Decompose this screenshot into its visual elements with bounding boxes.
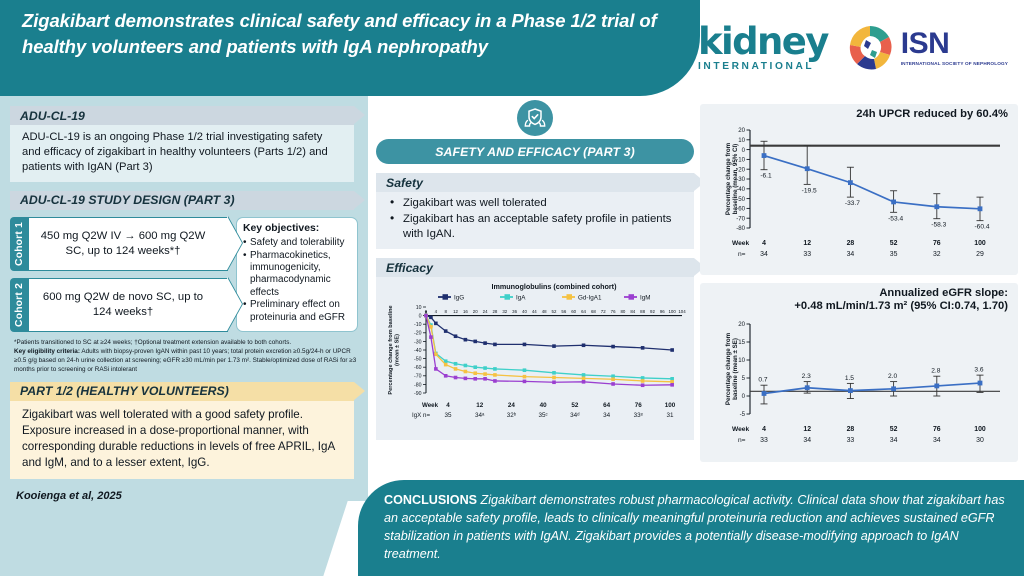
upcr-chart-container: 24h UPCR reduced by 60.4% 20100-10-20-30…: [700, 104, 1018, 275]
citation: Kooienga et al, 2025: [16, 490, 122, 502]
conclusions-panel: CONCLUSIONS Zigakibart demonstrates robu…: [358, 480, 1024, 576]
conclusions-text: Zigakibart demonstrates robust pharmacol…: [384, 493, 1005, 561]
svg-text:33: 33: [760, 437, 768, 444]
list-item: Preliminary effect on proteinuria and eG…: [243, 299, 353, 323]
svg-text:15: 15: [738, 339, 745, 346]
left-column: ADU-CL-19 ADU-CL-19 is an ongoing Phase …: [0, 96, 368, 576]
svg-text:72: 72: [601, 309, 606, 314]
svg-text:IgM: IgM: [640, 295, 651, 302]
isn-logo-text: ISN INTERNATIONAL SOCIETY OF NEPHROLOGY: [901, 29, 1008, 67]
svg-text:52: 52: [890, 240, 898, 247]
svg-text:20: 20: [738, 127, 745, 134]
shield-hands-icon: [517, 100, 553, 136]
egfr-title-line-1: Annualized eGFR slope:: [704, 287, 1008, 301]
svg-text:n=: n=: [738, 437, 746, 444]
svg-text:31: 31: [666, 412, 674, 419]
cohort-1-label: Cohort 1: [14, 222, 25, 266]
svg-text:Percentage change from baselin: Percentage change from baseline(mean ± S…: [388, 306, 400, 395]
eligibility-label: Key eligibility criteria:: [14, 348, 80, 355]
study-footnotes: *Patients transitioned to SC at ≥24 week…: [0, 332, 368, 374]
svg-text:88: 88: [640, 309, 645, 314]
svg-text:33: 33: [803, 251, 811, 258]
svg-text:Percentage change frombaseline: Percentage change frombaseline (mean, 95…: [725, 142, 739, 215]
svg-text:33: 33: [847, 437, 855, 444]
svg-text:10: 10: [738, 137, 745, 144]
svg-text:12: 12: [803, 240, 811, 247]
egfr-chart-container: Annualized eGFR slope: +0.48 mL/min/1.73…: [700, 283, 1018, 462]
banner-safety-label: Safety: [386, 176, 423, 190]
egfr-chart: 20151050-5Percentage change frombaseline…: [704, 314, 1010, 454]
egfr-chart-title: Annualized eGFR slope: +0.48 mL/min/1.73…: [704, 287, 1012, 314]
svg-text:12: 12: [803, 426, 811, 433]
key-objectives-title: Key objectives:: [243, 223, 353, 236]
safety-efficacy-pill-label: SAFETY AND EFFICACY (PART 3): [435, 145, 635, 159]
banner-part-1-2-label: PART 1/2 (HEALTHY VOLUNTEERS): [20, 384, 229, 398]
svg-text:2.3: 2.3: [802, 373, 811, 380]
isn-logo-subtitle: INTERNATIONAL SOCIETY OF NEPHROLOGY: [901, 61, 1008, 67]
svg-text:4: 4: [762, 426, 766, 433]
svg-text:30: 30: [976, 437, 984, 444]
banner-safety: Safety: [376, 173, 694, 192]
svg-text:-70: -70: [414, 374, 422, 380]
svg-text:10: 10: [738, 357, 745, 364]
svg-text:34: 34: [803, 437, 811, 444]
key-objectives-box: Key objectives: Safety and tolerability …: [236, 217, 358, 332]
svg-text:2.0: 2.0: [888, 373, 897, 380]
svg-text:Week: Week: [732, 426, 749, 433]
svg-text:24: 24: [508, 402, 516, 409]
egfr-title-line-2: +0.48 mL/min/1.73 m² (95% CI:0.74, 1.70): [704, 300, 1008, 314]
svg-text:Week: Week: [732, 240, 749, 247]
svg-text:-90: -90: [414, 391, 422, 397]
svg-text:34: 34: [890, 437, 898, 444]
isn-globe-icon: [844, 22, 896, 74]
logo-group: kidney INTERNATIONAL ISN INTER: [690, 0, 1024, 96]
svg-text:34ᵈ: 34ᵈ: [570, 412, 580, 419]
svg-text:4: 4: [762, 240, 766, 247]
svg-text:28: 28: [847, 240, 855, 247]
safety-bullet-list: Zigakibart was well tolerated Zigakibart…: [386, 196, 686, 241]
svg-text:32: 32: [502, 309, 507, 314]
footnote-symbols: *Patients transitioned to SC at ≥24 week…: [14, 339, 291, 346]
banner-study-design: ADU-CL-19 STUDY DESIGN (PART 3): [10, 191, 354, 210]
svg-text:96: 96: [660, 309, 665, 314]
svg-text:2.8: 2.8: [931, 368, 940, 375]
conclusions-label: CONCLUSIONS: [384, 493, 477, 507]
banner-part-1-2: PART 1/2 (HEALTHY VOLUNTEERS): [10, 382, 354, 401]
svg-text:36: 36: [512, 309, 517, 314]
svg-text:-80: -80: [414, 383, 422, 389]
svg-text:48: 48: [542, 309, 547, 314]
key-objectives-list: Safety and tolerability Pharmacokinetics…: [243, 237, 353, 323]
svg-text:100: 100: [974, 240, 986, 247]
cohort-1-tab: Cohort 1: [10, 217, 29, 271]
svg-text:52: 52: [890, 426, 898, 433]
svg-text:104: 104: [678, 309, 686, 314]
svg-text:20: 20: [473, 309, 478, 314]
svg-text:IgX n=: IgX n=: [412, 412, 430, 419]
svg-text:-10: -10: [414, 323, 422, 329]
svg-text:-50: -50: [414, 357, 422, 363]
svg-text:0: 0: [419, 314, 422, 320]
svg-text:100: 100: [974, 426, 986, 433]
svg-text:68: 68: [591, 309, 596, 314]
svg-text:8: 8: [444, 309, 447, 314]
kidney-logo-word: kidney: [698, 24, 828, 59]
svg-text:52: 52: [552, 309, 557, 314]
study-design-body: Cohort 1 450 mg Q2W IV → 600 mg Q2W SC, …: [0, 210, 368, 332]
svg-text:-33.7: -33.7: [845, 200, 860, 207]
svg-text:24: 24: [483, 309, 488, 314]
svg-text:0.7: 0.7: [758, 377, 767, 384]
isn-logo-word: ISN: [901, 29, 1008, 59]
kidney-international-logo: kidney INTERNATIONAL: [698, 24, 828, 72]
list-item: Safety and tolerability: [243, 237, 353, 249]
svg-text:34: 34: [760, 251, 768, 258]
svg-text:60: 60: [571, 309, 576, 314]
svg-text:35: 35: [444, 412, 452, 419]
svg-text:Week: Week: [422, 402, 439, 409]
middle-column: SAFETY AND EFFICACY (PART 3) Safety Ziga…: [376, 100, 694, 440]
svg-text:80: 80: [620, 309, 625, 314]
svg-text:-58.3: -58.3: [931, 221, 946, 228]
cohort-list: Cohort 1 450 mg Q2W IV → 600 mg Q2W SC, …: [10, 217, 228, 332]
svg-text:64: 64: [603, 402, 611, 409]
cohort-row: Cohort 1 450 mg Q2W IV → 600 mg Q2W SC, …: [10, 217, 228, 271]
svg-text:34: 34: [933, 437, 941, 444]
svg-text:76: 76: [933, 240, 941, 247]
svg-text:76: 76: [635, 402, 643, 409]
cohort-2-regimen: 600 mg Q2W de novo SC, up to 124 weeks†: [29, 278, 228, 332]
poster-header: Zigakibart demonstrates clinical safety …: [0, 0, 1024, 96]
svg-text:64: 64: [581, 309, 586, 314]
isn-logo: ISN INTERNATIONAL SOCIETY OF NEPHROLOGY: [844, 22, 1008, 74]
svg-text:20: 20: [738, 321, 745, 328]
kidney-logo-subtitle: INTERNATIONAL: [698, 61, 814, 72]
immunoglobulins-chart-container: Immunoglobulins (combined cohort)IgGIgAG…: [376, 277, 694, 440]
svg-text:100: 100: [668, 309, 676, 314]
svg-text:Immunoglobulins (combined coho: Immunoglobulins (combined cohort): [492, 282, 618, 291]
svg-text:16: 16: [463, 309, 468, 314]
svg-text:IgG: IgG: [454, 295, 464, 302]
svg-text:92: 92: [650, 309, 655, 314]
svg-text:34: 34: [603, 412, 611, 419]
svg-text:28: 28: [847, 426, 855, 433]
cohort-2-label: Cohort 2: [14, 283, 25, 327]
safety-efficacy-pill: SAFETY AND EFFICACY (PART 3): [376, 139, 694, 164]
svg-text:n=: n=: [738, 251, 746, 258]
cohort-1-regimen: 450 mg Q2W IV → 600 mg Q2W SC, up to 124…: [29, 217, 228, 271]
svg-text:0: 0: [742, 146, 746, 153]
svg-text:Gd-IgA1: Gd-IgA1: [578, 295, 602, 302]
adu-cl-19-description: ADU-CL-19 is an ongoing Phase 1/2 trial …: [10, 125, 354, 182]
svg-text:Percentage change frombaseline: Percentage change frombaseline (mean ± S…: [725, 332, 739, 405]
immunoglobulins-chart: Immunoglobulins (combined cohort)IgGIgAG…: [380, 281, 690, 433]
cohort-2-tab: Cohort 2: [10, 278, 29, 332]
banner-efficacy-label: Efficacy: [386, 261, 433, 275]
svg-text:-5: -5: [740, 411, 746, 418]
svg-text:84: 84: [630, 309, 635, 314]
svg-text:IgA: IgA: [516, 295, 526, 302]
svg-text:12: 12: [453, 309, 458, 314]
svg-text:52: 52: [571, 402, 579, 409]
svg-text:32: 32: [933, 251, 941, 258]
svg-text:-6.1: -6.1: [760, 172, 772, 179]
cohort-row: Cohort 2 600 mg Q2W de novo SC, up to 12…: [10, 278, 228, 332]
page-title: Zigakibart demonstrates clinical safety …: [22, 8, 662, 61]
svg-text:4: 4: [446, 402, 450, 409]
svg-text:0: 0: [742, 393, 746, 400]
svg-text:35ᶜ: 35ᶜ: [539, 412, 549, 419]
banner-adu-cl-19: ADU-CL-19: [10, 106, 354, 125]
svg-text:56: 56: [561, 309, 566, 314]
right-column: 24h UPCR reduced by 60.4% 20100-10-20-30…: [700, 104, 1018, 462]
svg-text:3.6: 3.6: [974, 367, 983, 374]
svg-text:76: 76: [611, 309, 616, 314]
svg-text:28: 28: [492, 309, 497, 314]
svg-text:-19.5: -19.5: [802, 187, 817, 194]
svg-text:-20: -20: [414, 331, 422, 337]
svg-text:-80: -80: [736, 225, 745, 232]
svg-text:44: 44: [532, 309, 537, 314]
svg-text:1.5: 1.5: [845, 375, 854, 382]
svg-text:-60: -60: [414, 366, 422, 372]
svg-text:-70: -70: [736, 215, 745, 222]
upcr-chart: 20100-10-20-30-40-50-60-70-80Percentage …: [704, 122, 1010, 267]
svg-text:-60.4: -60.4: [974, 223, 989, 230]
svg-text:33ᵉ: 33ᵉ: [634, 412, 644, 419]
banner-efficacy: Efficacy: [376, 258, 694, 277]
list-item: Pharmacokinetics, immunogenicity, pharma…: [243, 250, 353, 299]
svg-text:29: 29: [976, 251, 984, 258]
svg-text:12: 12: [476, 402, 484, 409]
list-item: Zigakibart was well tolerated: [386, 196, 686, 211]
upcr-chart-title: 24h UPCR reduced by 60.4%: [704, 108, 1012, 122]
svg-text:-40: -40: [414, 348, 422, 354]
svg-text:-53.4: -53.4: [888, 215, 903, 222]
shield-badge: [376, 100, 694, 136]
svg-text:40: 40: [522, 309, 527, 314]
banner-study-design-label: ADU-CL-19 STUDY DESIGN (PART 3): [20, 193, 235, 207]
svg-text:76: 76: [933, 426, 941, 433]
part-1-2-description: Zigakibart was well tolerated with a goo…: [10, 401, 354, 479]
svg-text:34ᵃ: 34ᵃ: [475, 412, 485, 419]
svg-text:100: 100: [665, 402, 676, 409]
list-item: Zigakibart has an acceptable safety prof…: [386, 212, 686, 242]
banner-adu-cl-19-label: ADU-CL-19: [20, 109, 85, 123]
svg-text:10: 10: [416, 305, 422, 311]
svg-text:5: 5: [742, 375, 746, 382]
safety-body: Zigakibart was well tolerated Zigakibart…: [376, 192, 694, 249]
svg-text:35: 35: [890, 251, 898, 258]
svg-text:34: 34: [847, 251, 855, 258]
svg-text:32ᵇ: 32ᵇ: [507, 412, 517, 419]
svg-text:-30: -30: [414, 340, 422, 346]
svg-text:4: 4: [435, 309, 438, 314]
svg-text:40: 40: [540, 402, 548, 409]
